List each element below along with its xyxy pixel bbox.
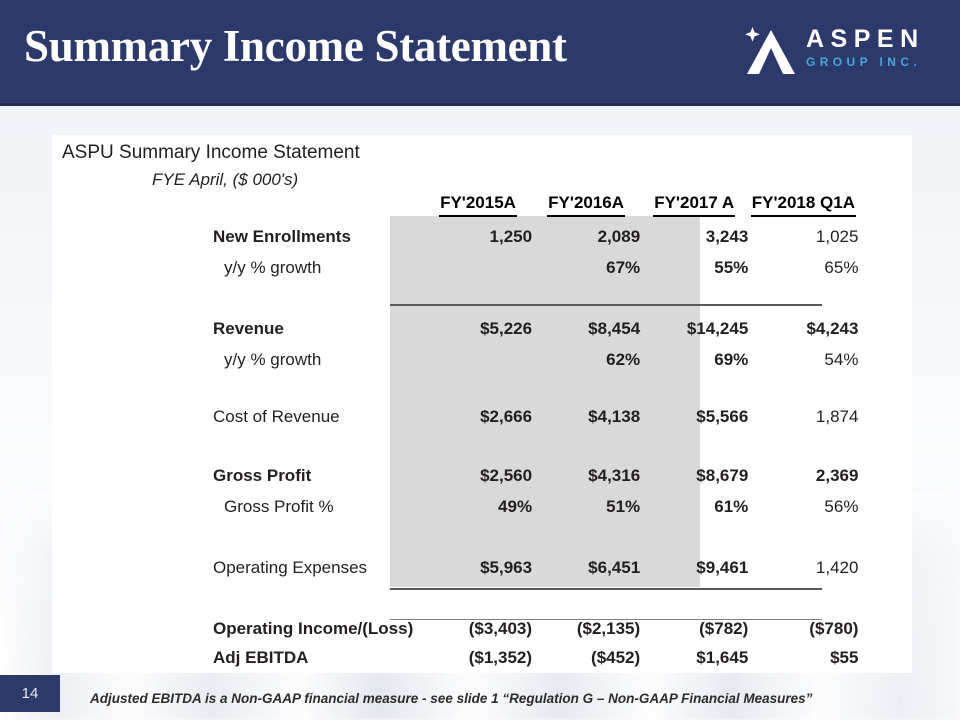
- cell-value: ($782): [640, 614, 748, 643]
- table-row-revenue: Revenue $5,226 $8,454 $14,245 $4,243: [52, 312, 912, 345]
- cell-value: $5,566: [640, 400, 748, 433]
- table-row-operating-income: Operating Income/(Loss) ($3,403) ($2,135…: [52, 614, 912, 643]
- table-spacer-row: [52, 374, 912, 400]
- cell-value: ($3,403): [424, 614, 532, 643]
- cell-pad: [858, 220, 912, 253]
- spacer: [640, 584, 748, 614]
- spacer: [52, 282, 424, 312]
- cell-value: $14,245: [640, 312, 748, 345]
- slide: Summary Income Statement ASPEN GROUP INC…: [0, 0, 960, 720]
- table-row-gross-profit-pct: Gross Profit % 49% 51% 61% 56%: [52, 492, 912, 521]
- spacer: [52, 374, 424, 400]
- cell-value: $4,243: [748, 312, 858, 345]
- cell-value: ($1,352): [424, 643, 532, 672]
- cell-value: 2,089: [532, 220, 640, 253]
- table-row-new-enrollments: New Enrollments 1,250 2,089 3,243 1,025: [52, 220, 912, 253]
- cell-value: [424, 345, 532, 374]
- cell-value: $2,560: [424, 459, 532, 492]
- spacer: [858, 521, 912, 551]
- spacer: [858, 433, 912, 459]
- row-label: y/y % growth: [52, 253, 424, 282]
- cell-pad: [858, 551, 912, 584]
- cell-pad: [858, 614, 912, 643]
- cell-value: 1,250: [424, 220, 532, 253]
- header-cell-label: [52, 190, 424, 220]
- cell-value: 49%: [424, 492, 532, 521]
- header-cell-fy2018q1a: FY'2018 Q1A: [748, 190, 858, 220]
- spacer: [532, 433, 640, 459]
- cell-value: 69%: [640, 345, 748, 374]
- cell-value: 65%: [748, 253, 858, 282]
- cell-value: $4,316: [532, 459, 640, 492]
- cell-value: $9,461: [640, 551, 748, 584]
- spacer: [424, 374, 532, 400]
- cell-value: $55: [748, 643, 858, 672]
- cell-value: $2,666: [424, 400, 532, 433]
- row-label: Gross Profit: [52, 459, 424, 492]
- header-cell-fy2017a: FY'2017 A: [640, 190, 748, 220]
- table-spacer-row: [52, 521, 912, 551]
- row-label: Gross Profit %: [52, 492, 424, 521]
- spacer: [52, 433, 424, 459]
- header-bar-edge: [0, 103, 960, 106]
- header-cell-fy2016a: FY'2016A: [532, 190, 640, 220]
- row-label: Operating Income/(Loss): [52, 614, 424, 643]
- cell-value: $8,679: [640, 459, 748, 492]
- cell-value: $5,963: [424, 551, 532, 584]
- cell-pad: [858, 643, 912, 672]
- table-row-revenue-growth: y/y % growth 62% 69% 54%: [52, 345, 912, 374]
- spacer: [424, 433, 532, 459]
- cell-pad: [858, 400, 912, 433]
- spacer: [748, 584, 858, 614]
- content-panel: ASPU Summary Income Statement FYE April,…: [52, 135, 912, 673]
- cell-value: 54%: [748, 345, 858, 374]
- cell-value: $6,451: [532, 551, 640, 584]
- cell-value: $1,645: [640, 643, 748, 672]
- spacer: [858, 282, 912, 312]
- spacer: [858, 374, 912, 400]
- table-spacer-row: [52, 282, 912, 312]
- cell-value: ($452): [532, 643, 640, 672]
- spacer: [52, 521, 424, 551]
- income-statement-table-wrap: FY'2015A FY'2016A FY'2017 A FY'2018 Q1A …: [52, 135, 912, 673]
- cell-value: 55%: [640, 253, 748, 282]
- spacer: [640, 282, 748, 312]
- spacer: [748, 374, 858, 400]
- cell-value: $4,138: [532, 400, 640, 433]
- income-statement-table: FY'2015A FY'2016A FY'2017 A FY'2018 Q1A …: [52, 190, 912, 672]
- cell-value: 62%: [532, 345, 640, 374]
- row-label: Cost of Revenue: [52, 400, 424, 433]
- cell-value: ($780): [748, 614, 858, 643]
- spacer: [424, 282, 532, 312]
- spacer: [532, 374, 640, 400]
- cell-value: 56%: [748, 492, 858, 521]
- spacer: [748, 282, 858, 312]
- cell-value: 3,243: [640, 220, 748, 253]
- spacer: [52, 584, 424, 614]
- row-label: Revenue: [52, 312, 424, 345]
- spacer: [532, 521, 640, 551]
- row-label: Adj EBITDA: [52, 643, 424, 672]
- cell-value: $8,454: [532, 312, 640, 345]
- spacer: [640, 521, 748, 551]
- table-row-gross-profit: Gross Profit $2,560 $4,316 $8,679 2,369: [52, 459, 912, 492]
- cell-pad: [858, 345, 912, 374]
- cell-pad: [858, 459, 912, 492]
- table-row-enrollment-growth: y/y % growth 67% 55% 65%: [52, 253, 912, 282]
- table-spacer-row: [52, 433, 912, 459]
- footnote-text: Adjusted EBITDA is a Non-GAAP financial …: [90, 691, 812, 706]
- spacer: [532, 584, 640, 614]
- cell-pad: [858, 312, 912, 345]
- cell-pad: [858, 253, 912, 282]
- logo-text: ASPEN GROUP INC.: [806, 24, 938, 70]
- spacer: [424, 584, 532, 614]
- spacer: [424, 521, 532, 551]
- table-row-cost-of-revenue: Cost of Revenue $2,666 $4,138 $5,566 1,8…: [52, 400, 912, 433]
- logo-wordmark: ASPEN: [806, 24, 938, 54]
- cell-pad: [858, 492, 912, 521]
- cell-value: 2,369: [748, 459, 858, 492]
- aspen-group-logo: ASPEN GROUP INC.: [738, 24, 938, 80]
- aspen-chevron-mark-icon: [744, 26, 798, 78]
- page-number-badge: 14: [0, 675, 60, 712]
- spacer: [748, 521, 858, 551]
- cell-value: 61%: [640, 492, 748, 521]
- cell-value: 51%: [532, 492, 640, 521]
- cell-value: 67%: [532, 253, 640, 282]
- cell-value: ($2,135): [532, 614, 640, 643]
- row-label: Operating Expenses: [52, 551, 424, 584]
- cell-value: $5,226: [424, 312, 532, 345]
- cell-value: [424, 253, 532, 282]
- cell-value: 1,025: [748, 220, 858, 253]
- spacer: [858, 584, 912, 614]
- table-row-operating-expenses: Operating Expenses $5,963 $6,451 $9,461 …: [52, 551, 912, 584]
- spacer: [640, 374, 748, 400]
- table-spacer-row: [52, 584, 912, 614]
- row-label: y/y % growth: [52, 345, 424, 374]
- table-row-adj-ebitda: Adj EBITDA ($1,352) ($452) $1,645 $55: [52, 643, 912, 672]
- cell-value: 1,874: [748, 400, 858, 433]
- row-label: New Enrollments: [52, 220, 424, 253]
- table-header-row: FY'2015A FY'2016A FY'2017 A FY'2018 Q1A: [52, 190, 912, 220]
- cell-value: 1,420: [748, 551, 858, 584]
- spacer: [748, 433, 858, 459]
- page-title: Summary Income Statement: [24, 20, 567, 72]
- spacer: [640, 433, 748, 459]
- header-cell-pad: [858, 190, 912, 220]
- logo-subtitle: GROUP INC.: [806, 54, 938, 70]
- header-cell-fy2015a: FY'2015A: [424, 190, 532, 220]
- spacer: [532, 282, 640, 312]
